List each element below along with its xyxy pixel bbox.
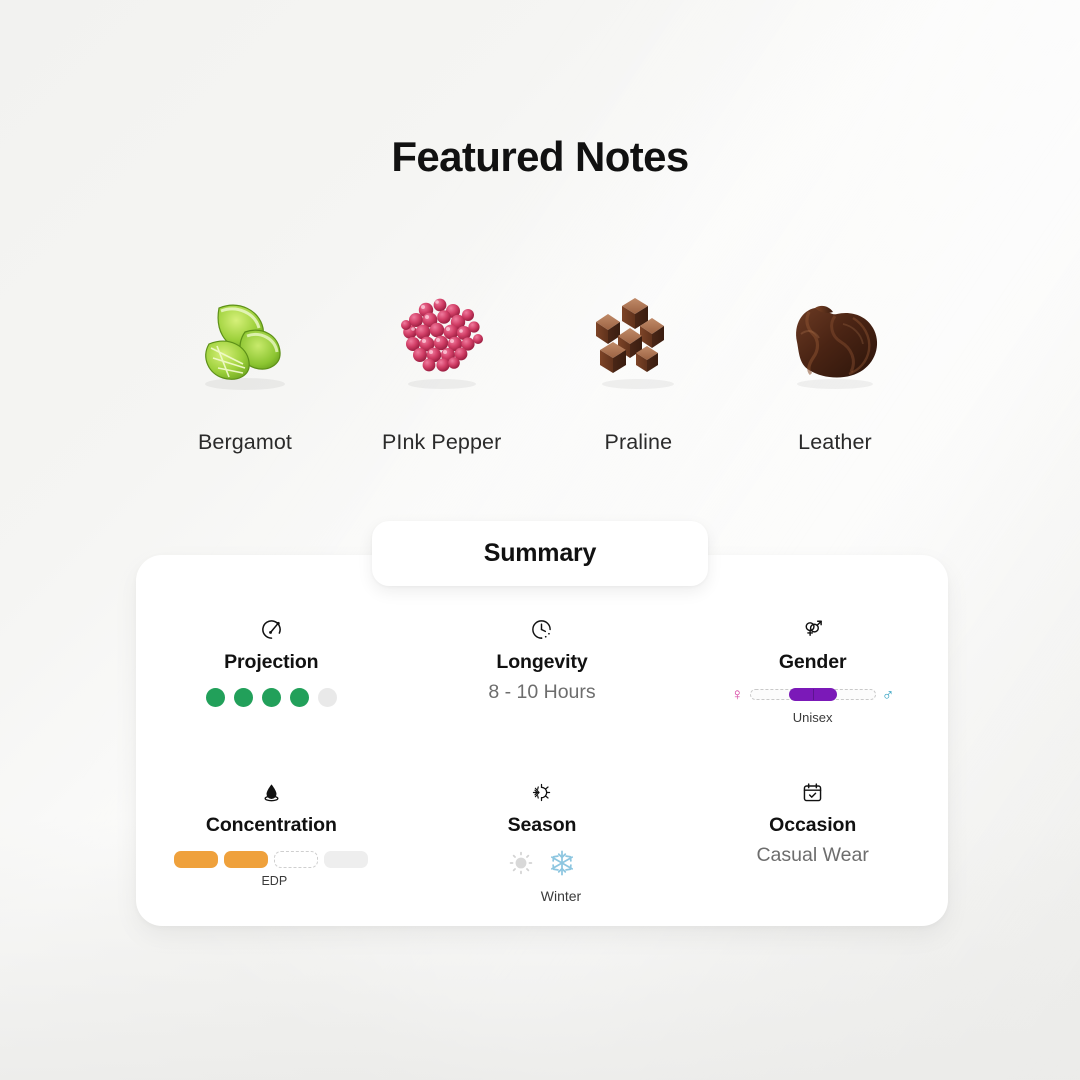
stat-concentration[interactable]: Concentration EDP [136,763,407,926]
projection-dot-meter [206,688,337,707]
sun-icon[interactable] [508,850,534,881]
season-caption: Winter [541,888,581,904]
note-item-bergamot[interactable]: Bergamot [150,284,340,455]
projection-dot-2 [234,688,253,707]
leather-hide-image [775,284,895,394]
projection-dot-1 [206,688,225,707]
gender-slider-track[interactable] [750,689,876,701]
lime-slices-image [185,284,305,394]
summary-stats-grid: Projection Longevity [136,600,948,926]
concentration-bar-2 [224,851,268,868]
clock-icon [530,616,553,642]
gender-caption: Unisex [793,710,833,725]
concentration-caption: EDP [261,874,287,888]
stat-title: Season [508,814,577,837]
gender-slider-fill[interactable] [789,688,837,701]
note-item-leather[interactable]: Leather [740,284,930,455]
note-item-pink-pepper[interactable]: PInk Pepper [347,284,537,455]
stat-season[interactable]: Season [407,763,678,926]
chocolate-cubes-image [578,284,698,394]
stat-title: Projection [224,651,318,674]
longevity-value: 8 - 10 Hours [488,681,595,704]
female-symbol-icon: ♀ [731,686,744,703]
projection-dot-5 [318,688,337,707]
note-label: Leather [798,430,872,455]
season-options [508,849,576,882]
concentration-bar-1 [174,851,218,868]
stat-title: Longevity [496,651,587,674]
projection-dot-3 [262,688,281,707]
pink-peppercorn-image [382,284,502,394]
gender-slider[interactable]: ♀ ♂ [731,686,895,703]
note-label: Bergamot [198,430,292,455]
stat-title: Gender [779,651,847,674]
note-item-praline[interactable]: Praline [543,284,733,455]
concentration-bar-3 [274,851,318,868]
stat-longevity[interactable]: Longevity 8 - 10 Hours [407,600,678,763]
occasion-value: Casual Wear [756,844,868,867]
stat-title: Concentration [206,814,337,837]
male-symbol-icon: ♂ [882,686,895,703]
note-label: Praline [605,430,673,455]
featured-notes-list: Bergamot [150,284,930,455]
calendar-check-icon [801,779,824,805]
sun-snow-icon [530,779,553,805]
projection-dot-4 [290,688,309,707]
stat-title: Occasion [769,814,856,837]
summary-pill: Summary [372,521,708,586]
page-title: Featured Notes [0,133,1080,181]
concentration-bar-meter [174,851,368,868]
stat-gender[interactable]: Gender ♀ ♂ Unisex [677,600,948,763]
note-label: PInk Pepper [382,430,501,455]
stat-projection[interactable]: Projection [136,600,407,763]
gauge-icon [260,616,283,642]
gender-combined-icon [801,616,824,642]
stat-occasion[interactable]: Occasion Casual Wear [677,763,948,926]
snowflake-icon[interactable] [548,849,576,882]
page-root: Featured Notes [0,0,1080,1080]
droplet-icon [260,779,283,805]
summary-pill-label: Summary [484,539,597,568]
concentration-bar-4 [324,851,368,868]
